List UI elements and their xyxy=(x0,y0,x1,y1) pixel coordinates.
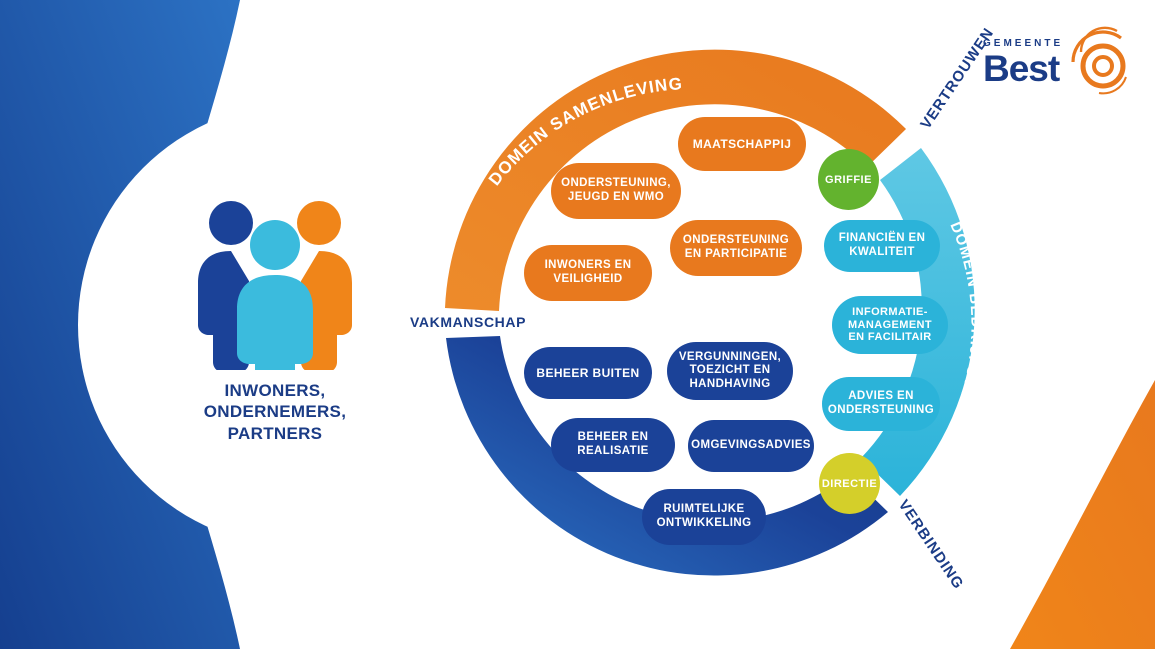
unit-beheer-realisatie[interactable]: BEHEER EN REALISATIE xyxy=(551,418,675,472)
swirl-icon xyxy=(1063,22,1135,98)
stakeholders-caption-line-1: INWONERS, xyxy=(170,380,380,401)
unit-directie[interactable]: DIRECTIE xyxy=(819,453,880,514)
unit-beheer-buiten[interactable]: BEHEER BUITEN xyxy=(524,347,652,399)
unit-maatschappij[interactable]: MAATSCHAPPIJ xyxy=(678,117,806,171)
unit-griffie[interactable]: GRIFFIE xyxy=(818,149,879,210)
stakeholders-caption-line-3: PARTNERS xyxy=(170,423,380,444)
person-center-icon xyxy=(237,220,313,370)
three-people-icon xyxy=(170,195,380,370)
unit-financien-kwaliteit[interactable]: FINANCIËN EN KWALITEIT xyxy=(824,220,940,272)
unit-ondersteuning-participatie[interactable]: ONDERSTEUNING EN PARTICIPATIE xyxy=(670,220,802,276)
unit-ruimtelijke-ontwikkeling[interactable]: RUIMTELIJKE ONTWIKKELING xyxy=(642,489,766,545)
gemeente-best-logo: GEMEENTE Best xyxy=(975,20,1135,100)
logo-best-text: Best xyxy=(983,48,1059,90)
unit-vergunningen-toezicht-handhaving[interactable]: VERGUNNINGEN, TOEZICHT EN HANDHAVING xyxy=(667,342,793,400)
stakeholders-block: INWONERS, ONDERNEMERS, PARTNERS xyxy=(170,195,380,444)
unit-advies-ondersteuning[interactable]: ADVIES EN ONDERSTEUNING xyxy=(822,377,940,431)
stakeholders-caption-line-2: ONDERNEMERS, xyxy=(170,401,380,422)
value-label-vakmanschap: VAKMANSCHAP xyxy=(410,314,526,330)
unit-inwoners-veiligheid[interactable]: INWONERS EN VEILIGHEID xyxy=(524,245,652,301)
unit-omgevingsadvies[interactable]: OMGEVINGSADVIES xyxy=(688,420,814,472)
unit-informatiemanagement-facilitair[interactable]: INFORMATIE-MANAGEMENT EN FACILITAIR xyxy=(832,296,948,354)
stakeholders-caption: INWONERS, ONDERNEMERS, PARTNERS xyxy=(170,380,380,444)
value-label-verbinding: VERBINDING xyxy=(895,497,967,593)
slide-canvas: DOMEIN SAMENLEVING DOMEIN OMGEVING DOMEI… xyxy=(0,0,1155,649)
unit-ondersteuning-jeugd-wmo[interactable]: ONDERSTEUNING, JEUGD EN WMO xyxy=(551,163,681,219)
